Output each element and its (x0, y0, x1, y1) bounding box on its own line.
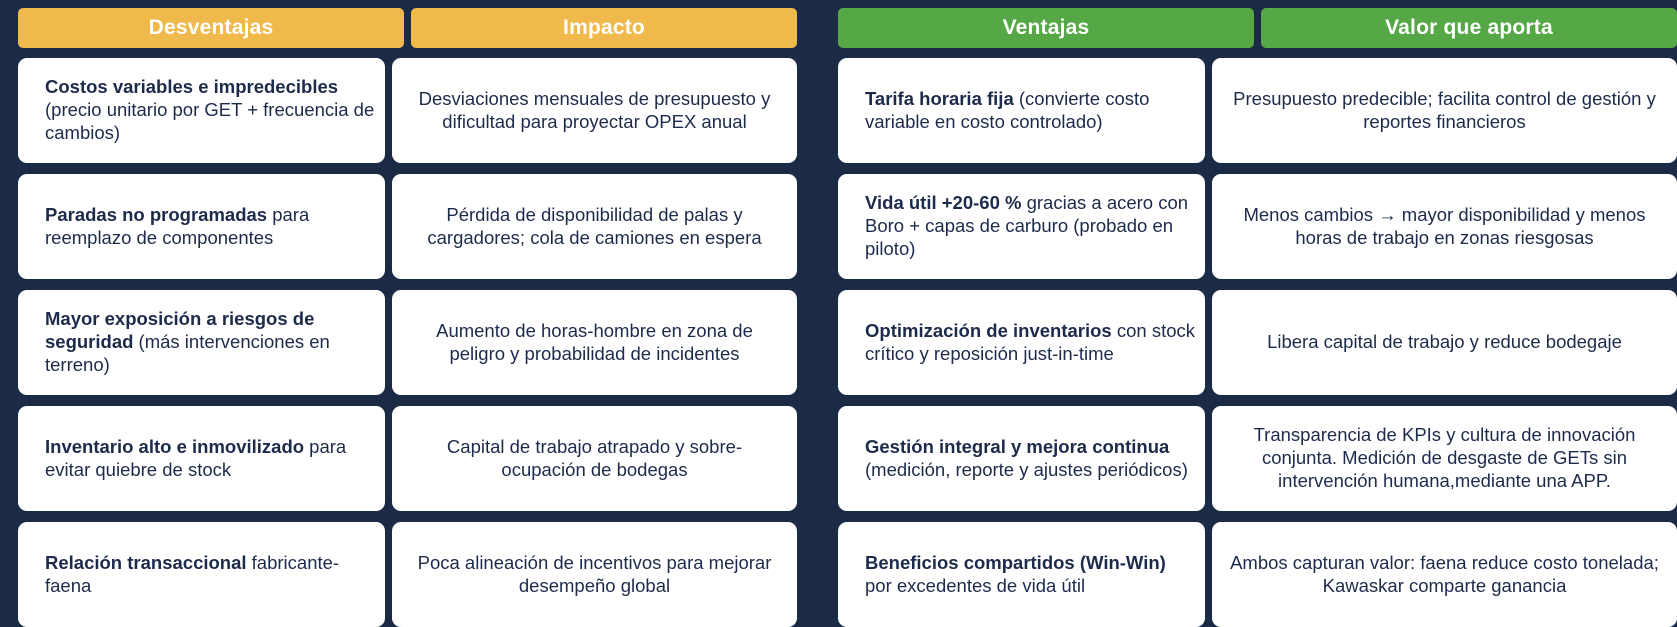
impact-text: Pérdida de disponibilidad de palas y car… (406, 204, 783, 250)
value-text: Menos cambios → mayor disponibilidad y m… (1226, 204, 1663, 250)
impact-cell: Capital de trabajo atrapado y sobre-ocup… (392, 406, 797, 511)
disadvantage-cell: Inventario alto e inmovilizado para evit… (18, 406, 385, 511)
table-row: 2 Paradas no programadas para reemplazo … (18, 174, 797, 279)
value-text: Presupuesto predecible; facilita control… (1226, 88, 1663, 134)
table-row: 5 Beneficios compartidos (Win-Win) por e… (838, 522, 1677, 627)
value-cell: Ambos capturan valor: faena reduce costo… (1212, 522, 1677, 627)
left-rows: 1 Costos variables e impredecibles (prec… (18, 48, 797, 627)
disadvantage-rest: (precio unitario por GET + frecuencia de… (45, 99, 374, 143)
advantage-cell: Beneficios compartidos (Win-Win) por exc… (838, 522, 1205, 627)
advantage-cell: Tarifa horaria fija (convierte costo var… (838, 58, 1205, 163)
disadvantage-strong: Relación transaccional (45, 552, 247, 573)
left-panel-disadvantages: Desventajas Impacto 1 Costos variables e… (18, 0, 797, 627)
left-header-row: Desventajas Impacto (18, 0, 797, 48)
value-cell: Menos cambios → mayor disponibilidad y m… (1212, 174, 1677, 279)
impact-cell: Pérdida de disponibilidad de palas y car… (392, 174, 797, 279)
value-text: Transparencia de KPIs y cultura de innov… (1226, 424, 1663, 492)
table-row: 2 Vida útil +20-60 % gracias a acero con… (838, 174, 1677, 279)
value-cell: Presupuesto predecible; facilita control… (1212, 58, 1677, 163)
value-text: Ambos capturan valor: faena reduce costo… (1226, 552, 1663, 598)
column-header-valor-que-aporta: Valor que aporta (1261, 8, 1677, 48)
table-row: 4 Inventario alto e inmovilizado para ev… (18, 406, 797, 511)
table-row: 5 Relación transaccional fabricante-faen… (18, 522, 797, 627)
disadvantage-cell: Relación transaccional fabricante-faena (18, 522, 385, 627)
right-header-row: Ventajas Valor que aporta (838, 0, 1677, 48)
advantage-strong: Optimización de inventarios (865, 320, 1112, 341)
advantage-cell: Optimización de inventarios con stock cr… (838, 290, 1205, 395)
disadvantage-cell: Costos variables e impredecibles (precio… (18, 58, 385, 163)
impact-cell: Desviaciones mensuales de presupuesto y … (392, 58, 797, 163)
disadvantage-strong: Costos variables e impredecibles (45, 76, 338, 97)
impact-cell: Poca alineación de incentivos para mejor… (392, 522, 797, 627)
value-cell: Libera capital de trabajo y reduce bodeg… (1212, 290, 1677, 395)
column-header-impacto: Impacto (411, 8, 797, 48)
disadvantage-strong: Paradas no programadas (45, 204, 267, 225)
advantage-strong: Vida útil +20-60 % (865, 192, 1021, 213)
impact-text: Desviaciones mensuales de presupuesto y … (406, 88, 783, 134)
right-rows: 1 Tarifa horaria fija (convierte costo v… (838, 48, 1677, 627)
advantage-cell: Vida útil +20-60 % gracias a acero con B… (838, 174, 1205, 279)
advantage-strong: Gestión integral y mejora continua (865, 436, 1169, 457)
advantage-rest: por excedentes de vida útil (865, 575, 1085, 596)
disadvantage-strong: Inventario alto e inmovilizado (45, 436, 304, 457)
impact-cell: Aumento de horas-hombre en zona de pelig… (392, 290, 797, 395)
table-row: 3 Mayor exposición a riesgos de segurida… (18, 290, 797, 395)
advantage-strong: Tarifa horaria fija (865, 88, 1014, 109)
advantage-rest: (medición, reporte y ajustes periódicos) (865, 459, 1188, 480)
advantage-strong: Beneficios compartidos (Win-Win) (865, 552, 1166, 573)
comparison-table: Desventajas Impacto 1 Costos variables e… (0, 0, 1677, 627)
value-text: Libera capital de trabajo y reduce bodeg… (1226, 331, 1663, 354)
impact-text: Capital de trabajo atrapado y sobre-ocup… (406, 436, 783, 482)
impact-text: Poca alineación de incentivos para mejor… (406, 552, 783, 598)
value-cell: Transparencia de KPIs y cultura de innov… (1212, 406, 1677, 511)
right-panel-advantages: Ventajas Valor que aporta 1 Tarifa horar… (838, 0, 1677, 627)
table-row: 1 Costos variables e impredecibles (prec… (18, 58, 797, 163)
disadvantage-cell: Mayor exposición a riesgos de seguridad … (18, 290, 385, 395)
impact-text: Aumento de horas-hombre en zona de pelig… (406, 320, 783, 366)
disadvantage-cell: Paradas no programadas para reemplazo de… (18, 174, 385, 279)
table-row: 1 Tarifa horaria fija (convierte costo v… (838, 58, 1677, 163)
column-header-ventajas: Ventajas (838, 8, 1254, 48)
column-header-desventajas: Desventajas (18, 8, 404, 48)
table-row: 3 Optimización de inventarios con stock … (838, 290, 1677, 395)
advantage-cell: Gestión integral y mejora continua (medi… (838, 406, 1205, 511)
table-row: 4 Gestión integral y mejora continua (me… (838, 406, 1677, 511)
